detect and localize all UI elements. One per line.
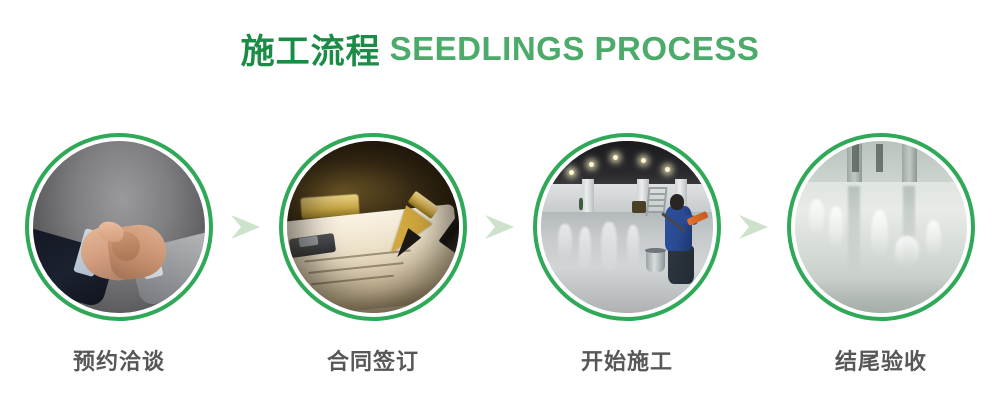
handshake-photo bbox=[33, 141, 205, 313]
worker-legs bbox=[668, 246, 694, 284]
step-4-circle[interactable] bbox=[787, 133, 975, 321]
finished-floor-photo bbox=[795, 141, 967, 313]
floor-highlight bbox=[809, 199, 824, 237]
step-3-circle[interactable] bbox=[533, 133, 721, 321]
step-2[interactable]: 合同签订 bbox=[275, 133, 471, 376]
floor-reflection bbox=[558, 224, 572, 262]
ceiling-lamp bbox=[665, 167, 670, 172]
page-title: 施工流程SEEDLINGS PROCESS bbox=[0, 24, 1000, 73]
ceiling-lamp bbox=[613, 155, 618, 160]
step-4-label: 结尾验收 bbox=[835, 344, 927, 376]
floor-highlight bbox=[895, 236, 919, 267]
floor-highlight bbox=[871, 210, 888, 258]
ceiling-lamp bbox=[641, 158, 646, 163]
floor-reflection bbox=[579, 227, 591, 272]
step-1[interactable]: 预约洽谈 bbox=[21, 133, 217, 376]
step-3-label: 开始施工 bbox=[581, 344, 673, 376]
floor-reflection bbox=[627, 225, 639, 266]
pillar-reflection bbox=[848, 186, 860, 275]
floor-highlight bbox=[829, 206, 843, 251]
step-1-label: 预约洽谈 bbox=[73, 344, 165, 376]
dark-opening bbox=[852, 144, 859, 172]
step-1-circle[interactable] bbox=[25, 133, 213, 321]
arrow-2 bbox=[471, 133, 529, 321]
arrow-3 bbox=[725, 133, 783, 321]
warehouse-ceiling bbox=[541, 141, 713, 187]
step-2-circle[interactable] bbox=[279, 133, 467, 321]
worker-head bbox=[670, 194, 684, 209]
step-2-label: 合同签订 bbox=[327, 344, 419, 376]
floor-highlight bbox=[926, 220, 941, 258]
page-title-cn: 施工流程 bbox=[241, 33, 381, 71]
chevron-right-icon bbox=[483, 212, 517, 242]
dark-opening bbox=[876, 144, 883, 172]
step-4[interactable]: 结尾验收 bbox=[783, 133, 979, 376]
photo-vignette bbox=[287, 141, 459, 313]
floor-reflection bbox=[601, 222, 616, 274]
floor-machine bbox=[632, 201, 646, 213]
ceiling-lamp bbox=[589, 162, 594, 167]
chevron-right-icon bbox=[229, 212, 263, 242]
process-steps: 预约洽谈 合同签订 bbox=[0, 133, 1000, 393]
contract-signing-photo bbox=[287, 141, 459, 313]
ceiling-lamp bbox=[569, 170, 574, 175]
distant-worker bbox=[579, 198, 583, 210]
arrow-1 bbox=[217, 133, 275, 321]
floor-construction-photo bbox=[541, 141, 713, 313]
page-title-en: SEEDLINGS PROCESS bbox=[390, 30, 760, 67]
floor-foreground-shade bbox=[795, 279, 967, 313]
chevron-right-icon bbox=[737, 212, 771, 242]
step-3[interactable]: 开始施工 bbox=[529, 133, 725, 376]
paint-bucket-rim bbox=[645, 248, 666, 253]
